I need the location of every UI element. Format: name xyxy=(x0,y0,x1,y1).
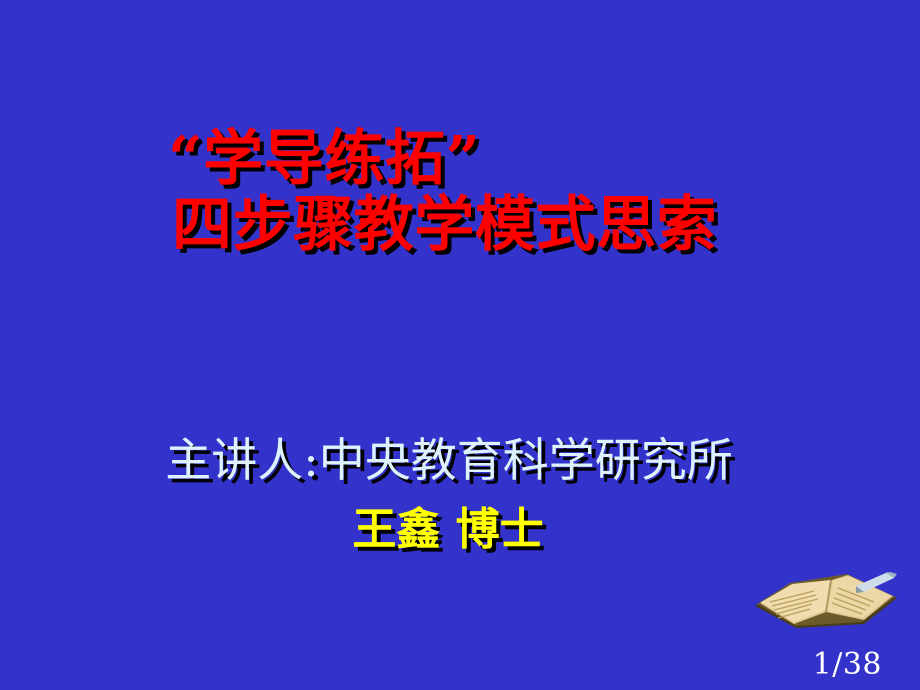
presentation-slide: “学导练拓” 四步骤教学模式思索 主讲人:中央教育科学研究所 王鑫 博士 xyxy=(0,0,920,690)
title-line-1: “学导练拓” xyxy=(0,126,920,192)
open-book-with-pen-icon xyxy=(752,572,902,634)
page-number: 1/38 xyxy=(813,648,882,682)
slide-subtitle: 主讲人:中央教育科学研究所 王鑫 博士 xyxy=(0,432,920,558)
presenter-affiliation: 主讲人:中央教育科学研究所 xyxy=(0,432,920,488)
title-line-2: 四步骤教学模式思索 xyxy=(0,192,920,258)
slide-title: “学导练拓” 四步骤教学模式思索 xyxy=(0,126,920,258)
presenter-name: 王鑫 博士 xyxy=(0,502,920,558)
